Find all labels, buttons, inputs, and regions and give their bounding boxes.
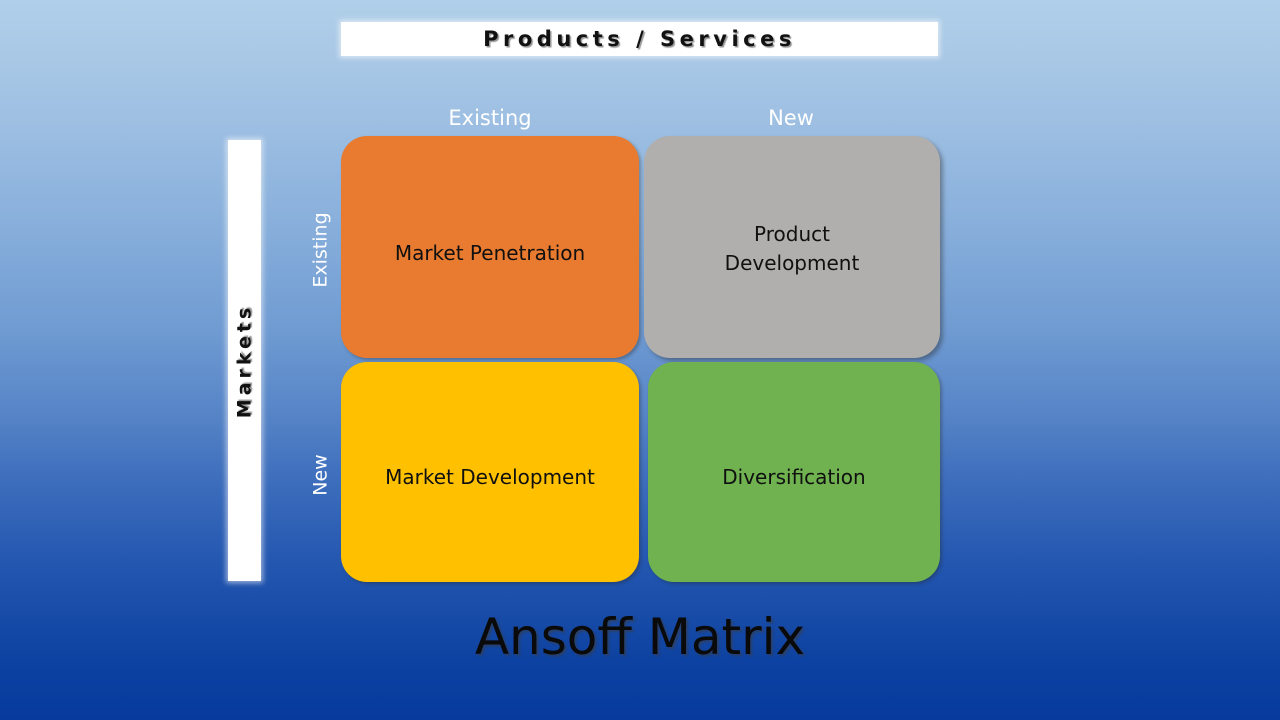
slide-title: Ansoff Matrix bbox=[0, 608, 1280, 666]
quadrant-diversification-label: Diversification bbox=[722, 463, 865, 492]
column-header-new: New bbox=[691, 104, 891, 132]
column-header-existing: Existing bbox=[390, 104, 590, 132]
products-services-banner-label: Products / Services bbox=[483, 27, 796, 51]
ansoff-matrix-slide: Products / Services Markets Existing New… bbox=[0, 0, 1280, 720]
markets-banner: Markets bbox=[228, 140, 261, 581]
row-header-new-label: New bbox=[310, 454, 332, 495]
quadrant-market-development-label: Market Development bbox=[385, 463, 595, 492]
row-header-new: New bbox=[308, 420, 334, 530]
quadrant-market-penetration-label: Market Penetration bbox=[395, 239, 585, 268]
products-services-banner: Products / Services bbox=[341, 22, 938, 56]
markets-banner-label: Markets bbox=[234, 303, 256, 418]
quadrant-diversification[interactable]: Diversification bbox=[648, 362, 940, 582]
row-header-existing: Existing bbox=[308, 190, 334, 310]
quadrant-product-development[interactable]: Product Development bbox=[644, 136, 940, 358]
quadrant-market-development[interactable]: Market Development bbox=[341, 362, 639, 582]
row-header-existing-label: Existing bbox=[310, 212, 332, 287]
quadrant-market-penetration[interactable]: Market Penetration bbox=[341, 136, 639, 358]
quadrant-product-development-label: Product Development bbox=[725, 220, 860, 278]
